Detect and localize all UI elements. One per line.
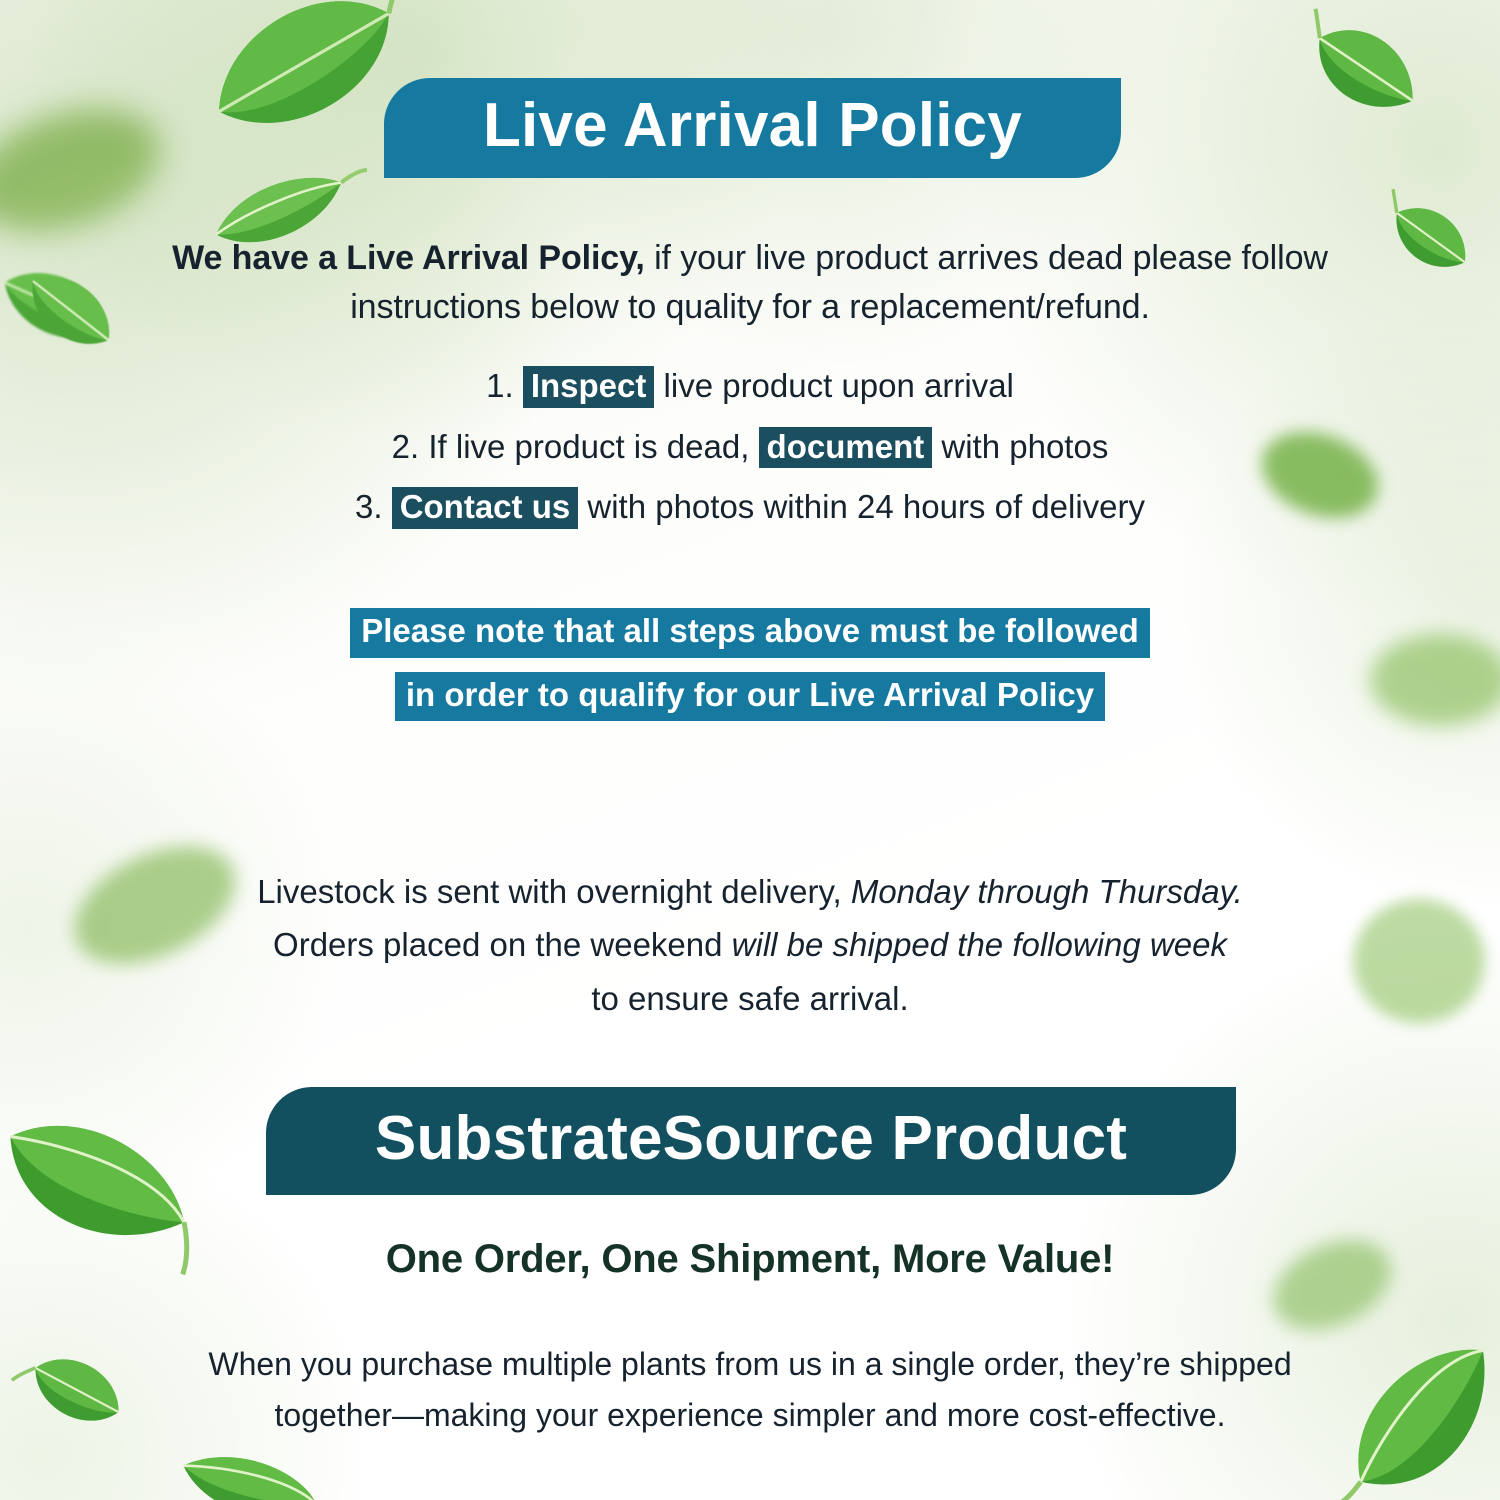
step-item-2: 2. If live product is dead, document wit… bbox=[150, 426, 1350, 469]
live-arrival-policy-page: Live Arrival Policy We have a Live Arriv… bbox=[0, 0, 1500, 1500]
step-item-3: 3. Contact us with photos within 24 hour… bbox=[150, 486, 1350, 529]
shipping-line2-italic: will be shipped the following week bbox=[732, 926, 1227, 963]
step-highlight-document: document bbox=[759, 427, 933, 469]
shipping-line3-plain: to ensure safe arrival. bbox=[591, 980, 908, 1017]
step-item-1: 1. Inspect live product upon arrival bbox=[150, 365, 1350, 408]
step-rest-text: live product upon arrival bbox=[654, 367, 1014, 404]
intro-bold-lead: We have a Live Arrival Policy, bbox=[172, 239, 645, 277]
closing-line-2: together—making your experience simpler … bbox=[275, 1397, 1226, 1433]
step-number: 3. bbox=[355, 488, 383, 525]
shipping-line1-italic: Monday through Thursday. bbox=[851, 873, 1243, 910]
policy-note-line-2: in order to qualify for our Live Arrival… bbox=[395, 672, 1105, 722]
shipping-paragraph: Livestock is sent with overnight deliver… bbox=[150, 865, 1350, 1025]
substratesource-product-banner: SubstrateSource Product bbox=[266, 1087, 1236, 1195]
value-subheadline: One Order, One Shipment, More Value! bbox=[150, 1237, 1350, 1282]
shipping-line2-plain: Orders placed on the weekend bbox=[273, 926, 732, 963]
steps-list: 1. Inspect live product upon arrival 2. … bbox=[150, 365, 1350, 547]
shipping-line1-plain: Livestock is sent with overnight deliver… bbox=[257, 873, 851, 910]
content-layer: Live Arrival Policy We have a Live Arriv… bbox=[0, 0, 1500, 1500]
closing-line-1: When you purchase multiple plants from u… bbox=[208, 1346, 1291, 1382]
live-arrival-policy-title: Live Arrival Policy bbox=[483, 90, 1022, 161]
substratesource-product-title: SubstrateSource Product bbox=[375, 1103, 1127, 1174]
step-rest-text: with photos within 24 hours of delivery bbox=[578, 488, 1145, 525]
intro-paragraph: We have a Live Arrival Policy, if your l… bbox=[150, 234, 1350, 333]
step-rest-text: with photos bbox=[932, 428, 1108, 465]
step-number: 2. bbox=[392, 428, 420, 465]
policy-note-block: Please note that all steps above must be… bbox=[150, 608, 1350, 735]
step-number: 1. bbox=[486, 367, 514, 404]
live-arrival-policy-banner: Live Arrival Policy bbox=[384, 78, 1121, 178]
step-highlight-inspect: Inspect bbox=[523, 366, 655, 408]
policy-note-line-1: Please note that all steps above must be… bbox=[350, 608, 1150, 658]
closing-paragraph: When you purchase multiple plants from u… bbox=[150, 1339, 1350, 1440]
step-pre-text: If live product is dead, bbox=[428, 428, 758, 465]
step-highlight-contact-us: Contact us bbox=[392, 487, 579, 529]
